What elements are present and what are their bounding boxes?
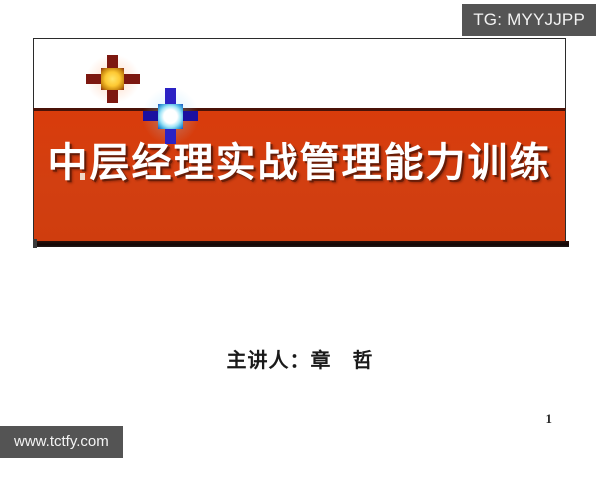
banner-bullet-dot (80, 173, 85, 180)
title-block: 中层经理实战管理能力训练 (33, 38, 566, 248)
website-watermark-badge: www.tctfy.com (0, 426, 123, 458)
sparkle-core (158, 104, 183, 129)
title-red-banner: 中层经理实战管理能力训练 (33, 108, 566, 241)
blue-white-sparkle-icon (143, 88, 198, 144)
banner-drop-shadow-bar (36, 241, 569, 247)
page-title: 中层经理实战管理能力训练 (34, 141, 565, 185)
slide-page-number: 1 (546, 411, 553, 427)
red-gold-sparkle-icon (86, 55, 140, 103)
sparkle-core (101, 68, 124, 90)
telegram-watermark-badge: TG: MYYJJPP (462, 4, 596, 36)
presentation-slide: TG: MYYJJPP 中层经理实战管理能力训练 主讲人：章 哲 1 www.t… (0, 0, 600, 480)
banner-left-tick (33, 239, 37, 248)
presenter-subtitle: 主讲人：章 哲 (0, 344, 600, 373)
